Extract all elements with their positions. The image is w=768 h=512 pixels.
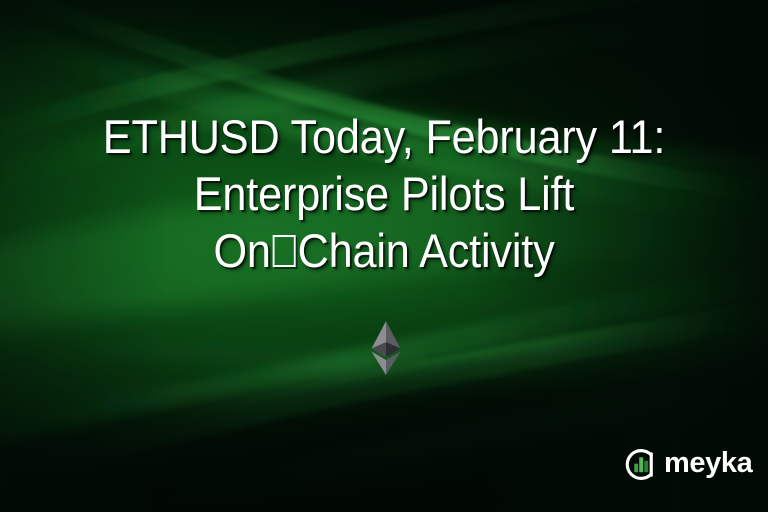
meyka-chart-ring-icon xyxy=(622,446,659,483)
article-hero-banner: ETHUSD Today, February 11: Enterprise Pi… xyxy=(0,0,768,512)
headline: ETHUSD Today, February 11: Enterprise Pi… xyxy=(0,108,768,279)
headline-line-3-suffix: Chain Activity xyxy=(298,224,555,277)
meyka-brand-logo[interactable]: meyka xyxy=(622,446,752,483)
headline-line-3: OnChain Activity xyxy=(31,222,738,279)
ethereum-logo-icon xyxy=(371,320,401,376)
headline-line-1: ETHUSD Today, February 11: xyxy=(31,108,738,165)
missing-glyph-box-icon xyxy=(273,235,295,268)
meyka-wordmark: meyka xyxy=(664,449,752,480)
headline-line-3-prefix: On xyxy=(213,224,270,277)
headline-line-2: Enterprise Pilots Lift xyxy=(31,165,738,222)
